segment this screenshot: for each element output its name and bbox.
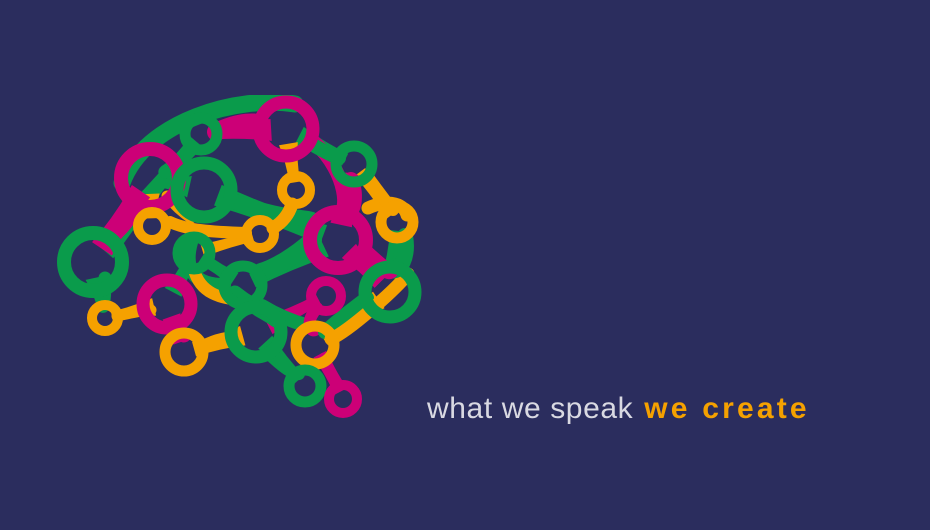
network-node — [282, 176, 310, 204]
network-node — [381, 206, 413, 238]
tagline-accent-text: we create — [644, 390, 810, 428]
splash-canvas: what we speak we create — [0, 0, 930, 530]
network-node — [329, 385, 357, 413]
network-node — [92, 305, 118, 331]
network-node — [336, 146, 372, 182]
tagline-light-text: what we speak — [427, 390, 633, 428]
network-node — [246, 220, 274, 248]
network-node — [289, 370, 321, 402]
network-node — [311, 281, 341, 311]
tagline: what we speak we create — [427, 390, 810, 428]
network-arc — [170, 222, 246, 233]
network-node — [185, 118, 217, 150]
brain-network-logo — [55, 95, 435, 435]
brain-network-svg — [55, 95, 435, 435]
network-nodes-layer — [64, 102, 415, 413]
network-node — [138, 212, 166, 240]
